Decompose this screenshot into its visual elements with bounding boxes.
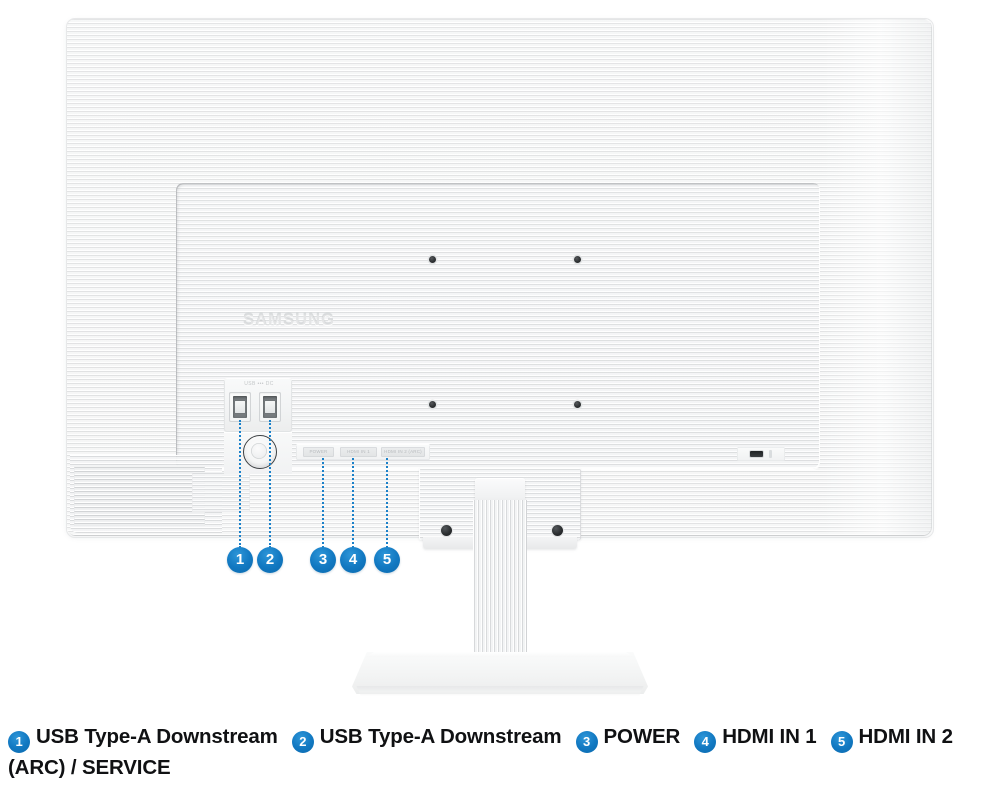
- callout-badge-3[interactable]: 3: [310, 547, 336, 573]
- legend-badge-4: 4: [694, 731, 716, 753]
- legend-label-1: USB Type-A Downstream: [36, 725, 278, 748]
- legend-item-4: 4HDMI IN 1: [694, 725, 816, 748]
- usb-bay-label: USB ••• DC: [229, 381, 289, 388]
- hdmi-in-1-port[interactable]: HDMI IN 1: [340, 447, 377, 457]
- legend-item-1: 1USB Type-A Downstream: [8, 725, 278, 748]
- legend-badge-1: 1: [8, 731, 30, 753]
- legend-item-3: 3POWER: [576, 725, 681, 748]
- legend-badge-5: 5: [831, 731, 853, 753]
- stand-base-shadow: [352, 686, 648, 696]
- usb-type-a-port-1[interactable]: [229, 392, 251, 422]
- leader-line-4: [352, 458, 354, 548]
- vesa-hole-top-left: [429, 256, 436, 263]
- power-port[interactable]: POWER: [303, 447, 334, 457]
- monitor-rear-illustration: SAMSUNG USB ••• DC POWER HDMI IN 1 HDMI …: [0, 0, 1000, 715]
- legend-label-3: POWER: [604, 725, 681, 748]
- samsung-wordmark: SAMSUNG: [243, 312, 339, 328]
- vesa-hole-bottom-right: [574, 401, 581, 408]
- lock-plate-pin: [769, 450, 772, 458]
- port-legend: 1USB Type-A Downstream2USB Type-A Downst…: [0, 722, 1000, 782]
- callout-badge-1[interactable]: 1: [227, 547, 253, 573]
- leader-line-5: [386, 458, 388, 548]
- kensington-lock-slot[interactable]: [750, 451, 763, 457]
- power-port-label: POWER: [303, 449, 334, 454]
- legend-badge-3: 3: [576, 731, 598, 753]
- vent-block-small: [192, 472, 250, 512]
- monitor-port-diagram: SAMSUNG USB ••• DC POWER HDMI IN 1 HDMI …: [0, 0, 1000, 800]
- stand-screw-right: [552, 525, 563, 536]
- hdmi-in-2-port[interactable]: HDMI IN 2 (ARC): [381, 447, 425, 457]
- callout-badge-5[interactable]: 5: [374, 547, 400, 573]
- callout-badge-2[interactable]: 2: [257, 547, 283, 573]
- legend-label-4: HDMI IN 1: [722, 725, 816, 748]
- vesa-hole-top-right: [574, 256, 581, 263]
- legend-item-2: 2USB Type-A Downstream: [292, 725, 562, 748]
- legend-label-2: USB Type-A Downstream: [320, 725, 562, 748]
- leader-line-2: [269, 420, 271, 548]
- usb-type-a-port-2[interactable]: [259, 392, 281, 422]
- vent-block-inner: [74, 466, 205, 526]
- stand-base-top-face: [366, 652, 634, 657]
- leader-line-3: [322, 458, 324, 548]
- stand-screw-left: [441, 525, 452, 536]
- legend-flow: 1USB Type-A Downstream2USB Type-A Downst…: [8, 722, 992, 782]
- hdmi-in-2-label: HDMI IN 2 (ARC): [381, 449, 425, 454]
- joystick-nub[interactable]: [251, 443, 267, 459]
- leader-line-1: [239, 420, 241, 548]
- hdmi-in-1-label: HDMI IN 1: [340, 449, 377, 454]
- vesa-hole-bottom-left: [429, 401, 436, 408]
- callout-badge-4[interactable]: 4: [340, 547, 366, 573]
- legend-badge-2: 2: [292, 731, 314, 753]
